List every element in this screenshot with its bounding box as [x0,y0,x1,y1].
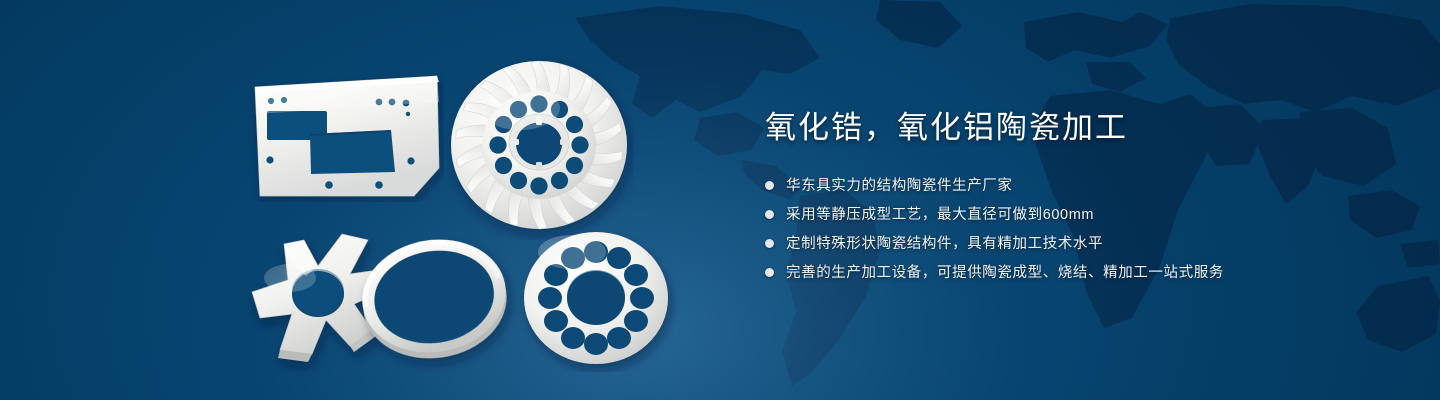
list-item: 采用等静压成型工艺，最大直径可做到600mm [765,202,1385,227]
feature-text: 华东具实力的结构陶瓷件生产厂家 [786,176,1013,196]
feature-text: 采用等静压成型工艺，最大直径可做到600mm [786,205,1094,225]
feature-list: 华东具实力的结构陶瓷件生产厂家 采用等静压成型工艺，最大直径可做到600mm 定… [765,173,1385,285]
bullet-dot-icon [765,210,774,219]
hero-banner: 氧化锆，氧化铝陶瓷加工 华东具实力的结构陶瓷件生产厂家 采用等静压成型工艺，最大… [0,0,1440,400]
page-title: 氧化锆，氧化铝陶瓷加工 [765,108,1385,148]
bullet-dot-icon [765,181,774,190]
list-item: 定制特殊形状陶瓷结构件，具有精加工技术水平 [765,231,1385,256]
list-item: 华东具实力的结构陶瓷件生产厂家 [765,173,1385,198]
list-item: 完善的生产加工设备，可提供陶瓷成型、烧结、精加工一站式服务 [765,260,1385,285]
ceramic-ring-part [344,218,524,373]
banner-text-block: 氧化锆，氧化铝陶瓷加工 华东具实力的结构陶瓷件生产厂家 采用等静压成型工艺，最大… [765,108,1385,289]
ceramic-impeller-part [444,50,634,240]
bullet-dot-icon [765,268,774,277]
feature-text: 完善的生产加工设备，可提供陶瓷成型、烧结、精加工一站式服务 [786,263,1224,283]
bullet-dot-icon [765,239,774,248]
ceramic-disc-part [518,222,678,372]
feature-text: 定制特殊形状陶瓷结构件，具有精加工技术水平 [786,234,1103,254]
product-photo-group [0,0,760,400]
ceramic-plate-part [248,72,444,202]
